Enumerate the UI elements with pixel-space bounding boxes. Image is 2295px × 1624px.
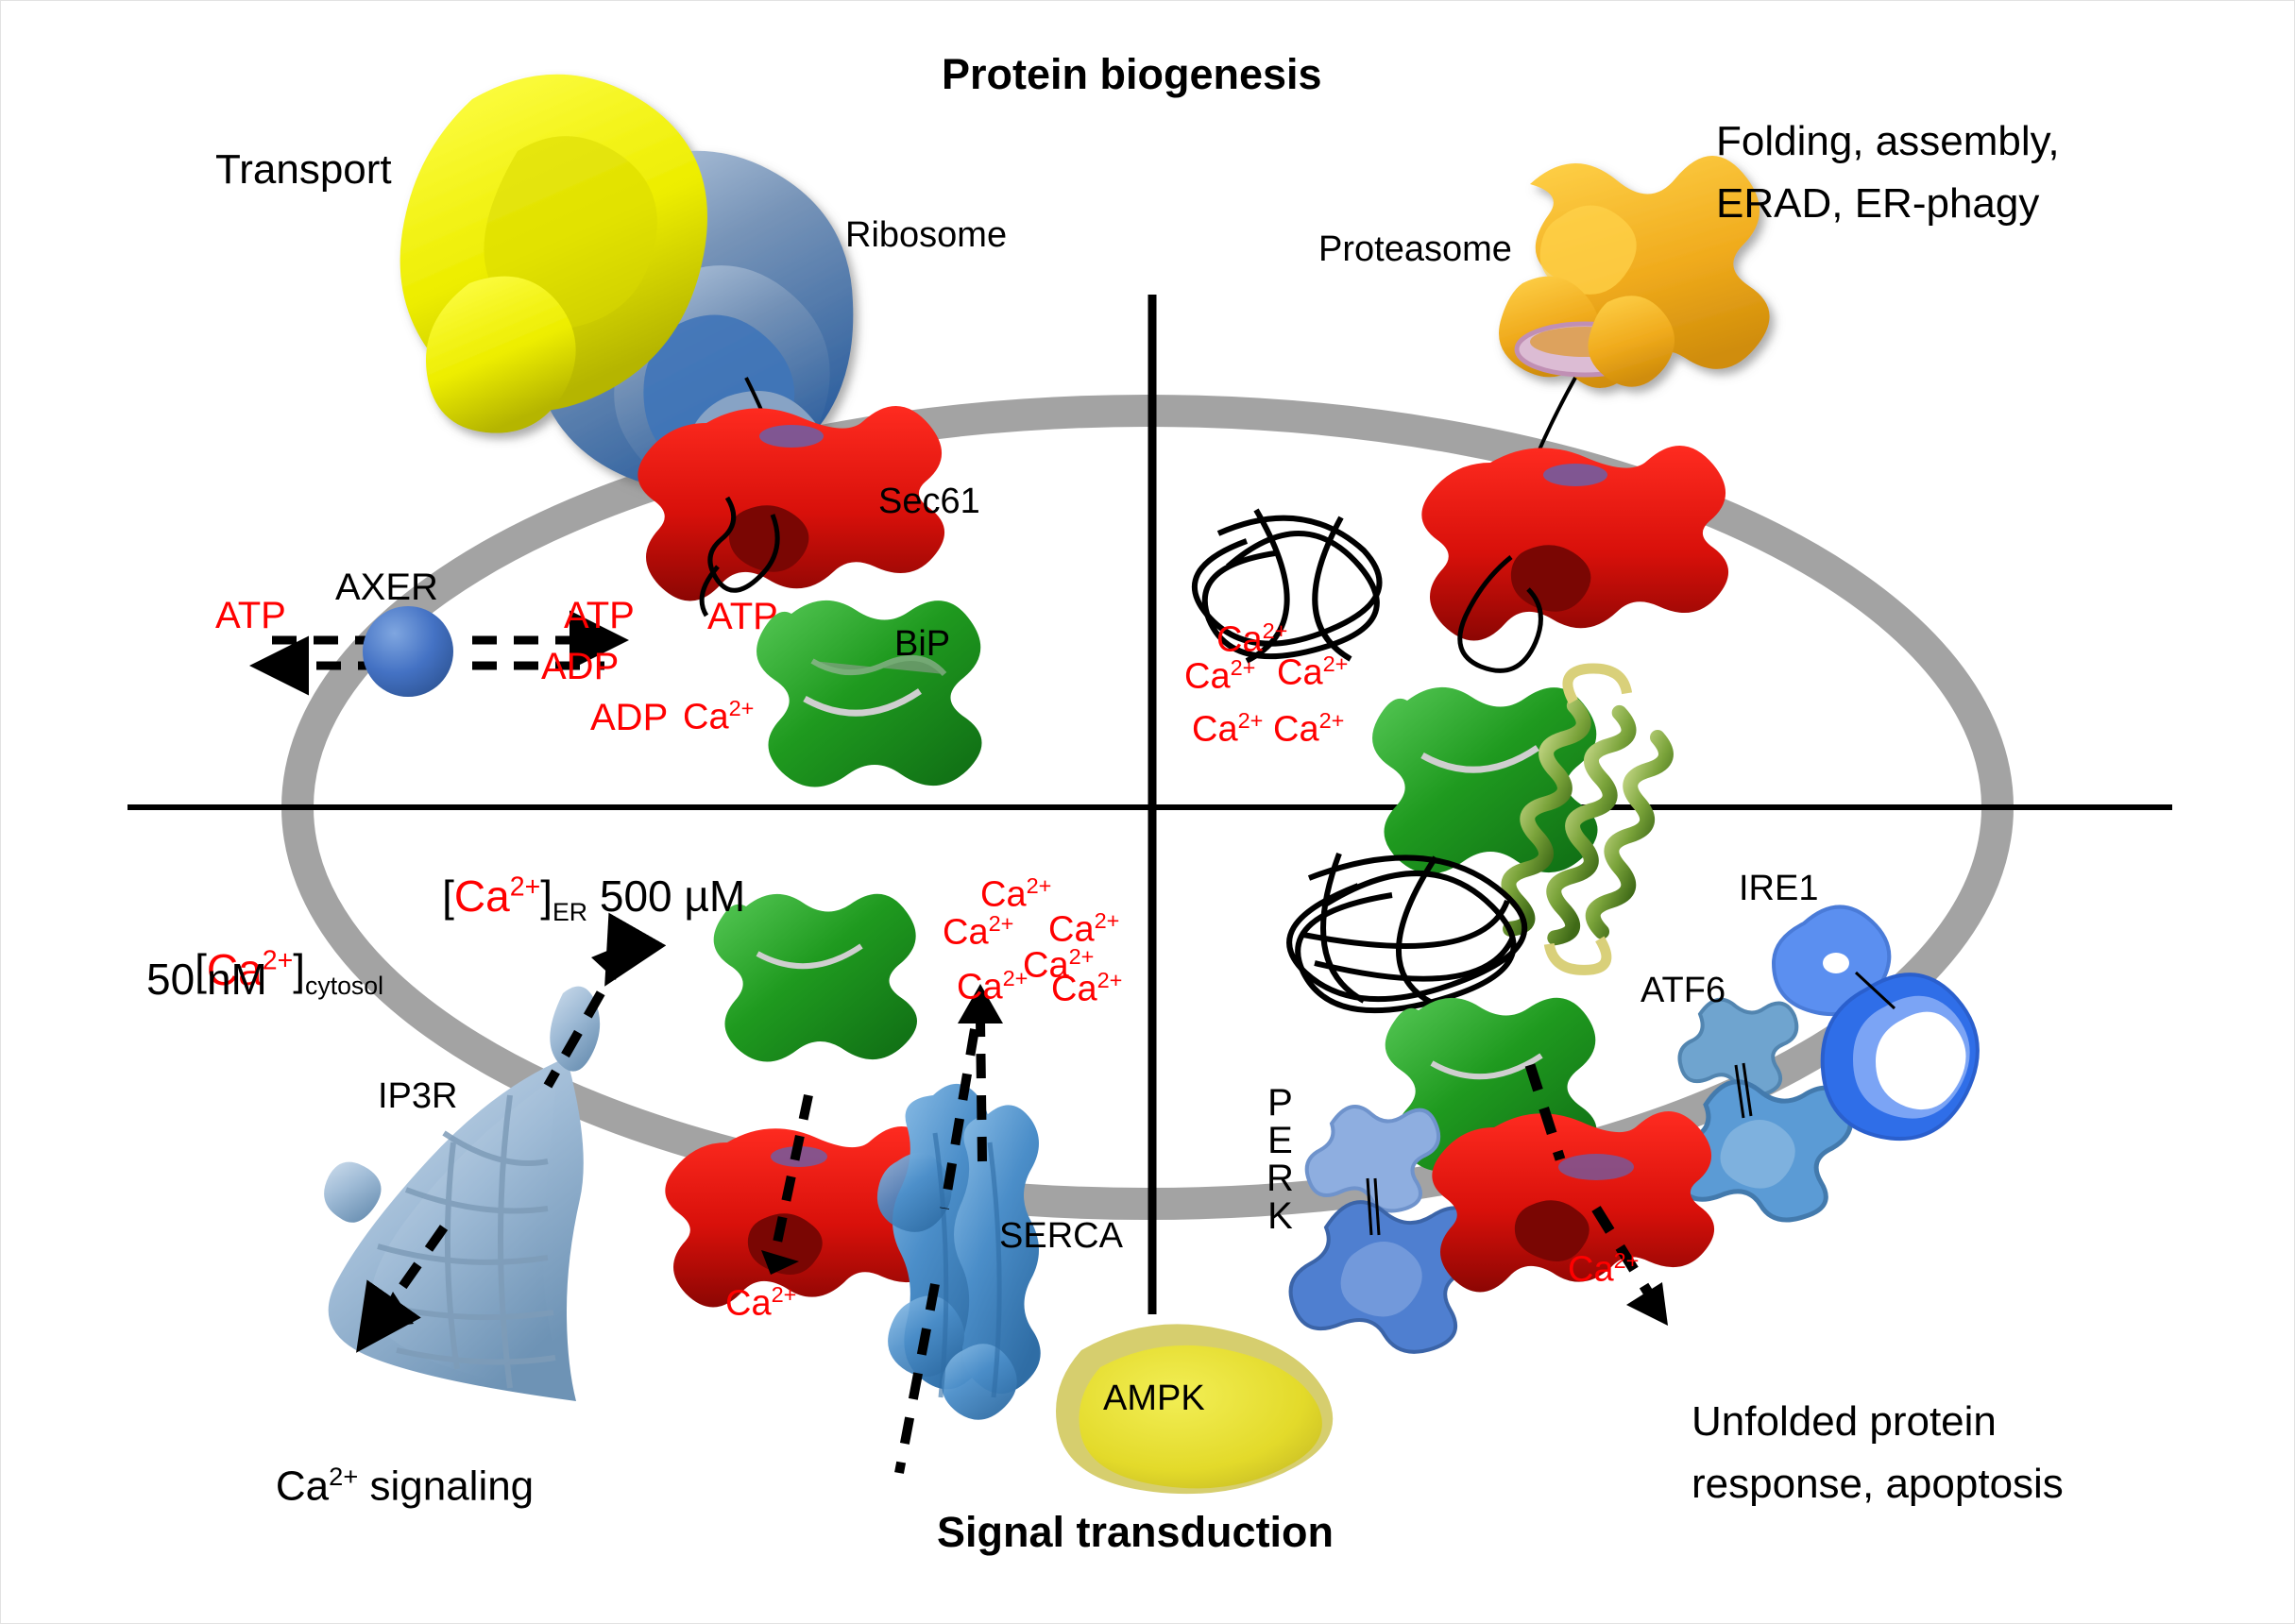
subscript-cytosol: cytosol [305,972,383,1000]
bracket-close: ] [293,945,305,994]
er-function-diagram: Protein biogenesis Signal transduction T… [0,0,2295,1624]
ca-charge: 2+ [1003,966,1028,990]
label-adp-lumen-axer: ADP [541,646,619,688]
ca-text: Ca [957,968,1003,1007]
label-ire1: IRE1 [1739,869,1818,909]
ca-text: Ca [683,698,729,737]
label-bip: BiP [894,624,950,665]
ca-text: Ca [943,913,989,953]
ca-charge: 2+ [729,696,755,720]
ca-text: Ca [1184,657,1231,697]
label-sec61: Sec61 [878,482,980,522]
ca-signaling-ion: Ca [276,1463,329,1510]
ca-efflux-upr: Ca2+ [1568,1248,1639,1291]
quadrant-label-folding-line2: ERAD, ER-phagy [1716,180,2039,227]
ca-text: Ca [1192,710,1238,750]
ca-ion-bip-lumen: Ca2+ [683,696,754,738]
serca-uptake-arrow [980,1020,982,1161]
concentration-cytosol-value: 50 nM [146,956,267,1005]
title-protein-biogenesis: Protein biogenesis [942,51,1322,98]
label-perk: P E R K [1266,1084,1294,1235]
label-atp-cytosol-axer: ATP [215,595,286,637]
subscript-er: ER [552,898,587,926]
ca-ion-lumen-mid-6: Ca2+ [1051,968,1122,1010]
label-axer: AXER [335,567,438,609]
ca-text: Ca [1277,653,1323,693]
quadrant-label-transport: Transport [215,146,392,193]
ca-charge: 2+ [1069,944,1095,969]
ca-text: Ca [1273,710,1319,750]
ca-charge: 2+ [1319,708,1345,733]
ca-ion-lumen-mid-1: Ca2+ [980,873,1051,916]
ca-ion-lumen-tr-4: Ca2+ [1192,708,1263,751]
ca-signaling-charge: 2+ [329,1462,358,1491]
label-serca: SERCA [999,1216,1123,1257]
ca-text: Ca [1216,620,1263,660]
er-value: 500 µM [587,871,745,921]
perk-letter-p: P [1267,1084,1293,1122]
quadrant-label-upr-line1: Unfolded protein [1691,1398,1997,1445]
ca-text: Ca [980,875,1027,915]
ca-charge: 2+ [1097,968,1123,992]
quadrant-label-ca-signaling: Ca2+ signaling [229,1416,534,1556]
quadrant-label-upr-line2: response, apoptosis [1691,1461,2064,1507]
bracket-open: [ [442,871,454,921]
quadrant-label-folding-line1: Folding, assembly, [1716,118,2060,164]
label-ribosome: Ribosome [845,215,1007,256]
ca-charge: 2+ [1614,1248,1640,1273]
ca-ion-lumen-tr-2: Ca2+ [1184,655,1255,698]
ca-charge: 2+ [510,871,541,902]
misfolded-protein-tangle-upr [1289,854,1524,1010]
ca-charge: 2+ [1263,618,1288,643]
ca-efflux-sec61-bottom: Ca2+ [725,1282,796,1325]
label-ampk: AMPK [1103,1379,1205,1419]
ca-ion-lumen-tr-5: Ca2+ [1273,708,1344,751]
ca-charge: 2+ [1231,655,1256,680]
ca-ion-lumen-tr-3: Ca2+ [1277,651,1348,694]
ca-ion-lumen-mid-5: Ca2+ [957,966,1028,1008]
ca-text: Ca [725,1284,772,1324]
label-atp-lumen-axer: ATP [564,595,635,637]
label-atp-sec61-bip: ATP [707,596,778,638]
ca-charge: 2+ [1095,908,1120,933]
perk-letter-k: K [1267,1197,1293,1235]
axer-transporter [363,606,453,697]
label-ip3r: IP3R [378,1076,457,1117]
title-signal-transduction: Signal transduction [937,1509,1334,1556]
ca-charge: 2+ [772,1282,797,1307]
ca-text: Ca [454,871,510,921]
label-proteasome: Proteasome [1318,229,1512,270]
perk-letter-e: E [1267,1122,1293,1159]
bracket-close: ] [540,871,552,921]
ca-charge: 2+ [1027,873,1052,898]
ca-signaling-word: signaling [358,1463,534,1510]
concentration-er: [Ca2+]ER 500 µM [394,823,745,975]
ca-charge: 2+ [1323,651,1349,676]
label-adp-lumen-free: ADP [590,697,668,739]
ca-text: Ca [1051,970,1097,1009]
ca-charge: 2+ [1238,708,1264,733]
ca-charge: 2+ [989,911,1014,936]
perk-letter-r: R [1266,1159,1294,1197]
ca-ion-lumen-mid-2: Ca2+ [943,911,1013,954]
ca-text: Ca [1568,1250,1614,1290]
label-atf6: ATF6 [1640,971,1725,1011]
